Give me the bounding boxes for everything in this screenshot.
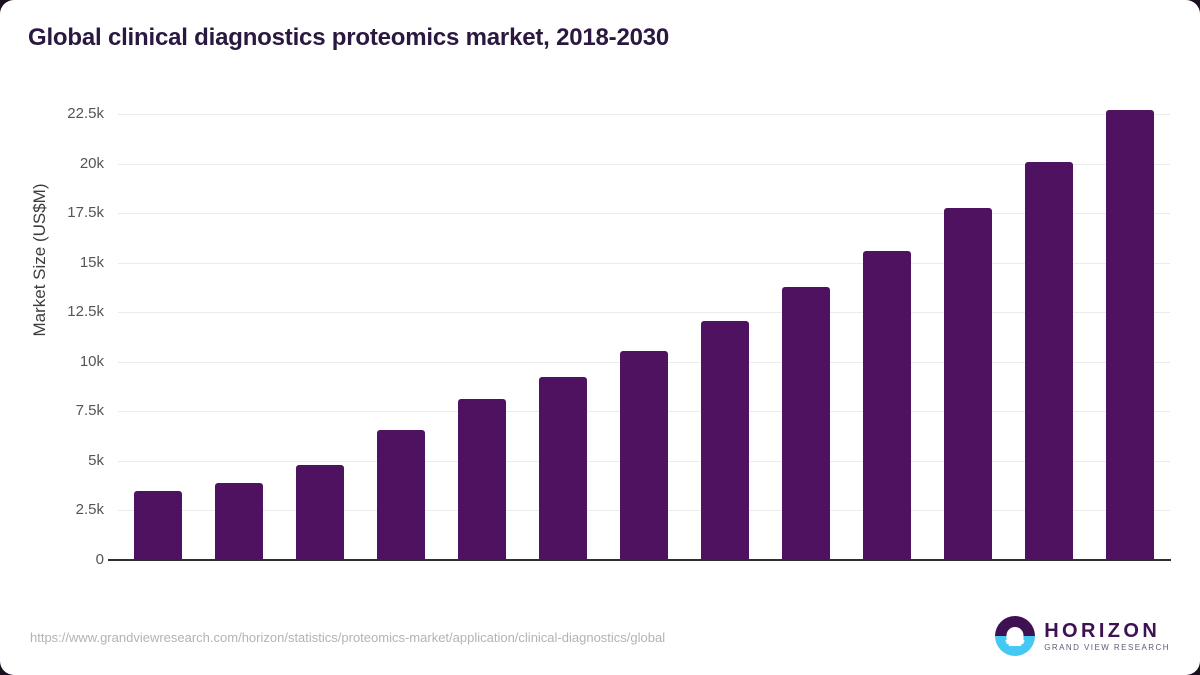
bar-slot bbox=[684, 114, 765, 560]
y-tick-label: 2.5k bbox=[14, 501, 104, 518]
horizon-logo-icon bbox=[995, 616, 1035, 656]
bar-slot bbox=[765, 114, 846, 560]
source-url[interactable]: https://www.grandviewresearch.com/horizo… bbox=[30, 630, 665, 645]
y-tick-label: 5k bbox=[14, 452, 104, 469]
logo-text: HORIZON GRAND VIEW RESEARCH bbox=[1044, 621, 1170, 652]
bar-slot bbox=[927, 114, 1008, 560]
bar[interactable] bbox=[215, 483, 263, 560]
bars-layer: 2018201920202021202220232024202520262027… bbox=[118, 114, 1170, 560]
bar[interactable] bbox=[1106, 110, 1154, 560]
bar[interactable] bbox=[296, 465, 344, 560]
y-tick-label: 17.5k bbox=[14, 204, 104, 221]
y-tick-label: 10k bbox=[14, 353, 104, 370]
bar[interactable] bbox=[863, 251, 911, 560]
bar-slot bbox=[118, 114, 199, 560]
bar-slot bbox=[1008, 114, 1089, 560]
bar[interactable] bbox=[620, 351, 668, 560]
chart-card: Global clinical diagnostics proteomics m… bbox=[0, 0, 1200, 675]
y-tick-label: 12.5k bbox=[14, 303, 104, 320]
bar[interactable] bbox=[782, 287, 830, 560]
horizon-line-icon bbox=[1009, 644, 1022, 646]
bar[interactable] bbox=[134, 491, 182, 560]
y-tick-label: 0 bbox=[14, 551, 104, 568]
bar-slot bbox=[604, 114, 685, 560]
y-tick-label: 20k bbox=[14, 155, 104, 172]
horizon-line-icon bbox=[1006, 640, 1025, 642]
chart-plot: Market Size (US$M) 02.5k5k7.5k10k12.5k15… bbox=[0, 0, 1200, 675]
bar[interactable] bbox=[701, 321, 749, 560]
logo-tagline: GRAND VIEW RESEARCH bbox=[1044, 644, 1170, 652]
horizon-logo: HORIZON GRAND VIEW RESEARCH bbox=[995, 616, 1170, 656]
bar-slot bbox=[523, 114, 604, 560]
y-tick-label: 22.5k bbox=[14, 105, 104, 122]
bar-slot bbox=[442, 114, 523, 560]
y-tick-label: 7.5k bbox=[14, 402, 104, 419]
bar-slot bbox=[846, 114, 927, 560]
bar-slot bbox=[199, 114, 280, 560]
y-tick-label: 15k bbox=[14, 254, 104, 271]
bar[interactable] bbox=[944, 208, 992, 560]
logo-name: HORIZON bbox=[1044, 621, 1170, 641]
bar[interactable] bbox=[377, 430, 425, 560]
bar[interactable] bbox=[539, 377, 587, 560]
bar[interactable] bbox=[1025, 162, 1073, 560]
bar-slot bbox=[361, 114, 442, 560]
bar-slot bbox=[1089, 114, 1170, 560]
bar[interactable] bbox=[458, 399, 506, 560]
bar-slot bbox=[280, 114, 361, 560]
